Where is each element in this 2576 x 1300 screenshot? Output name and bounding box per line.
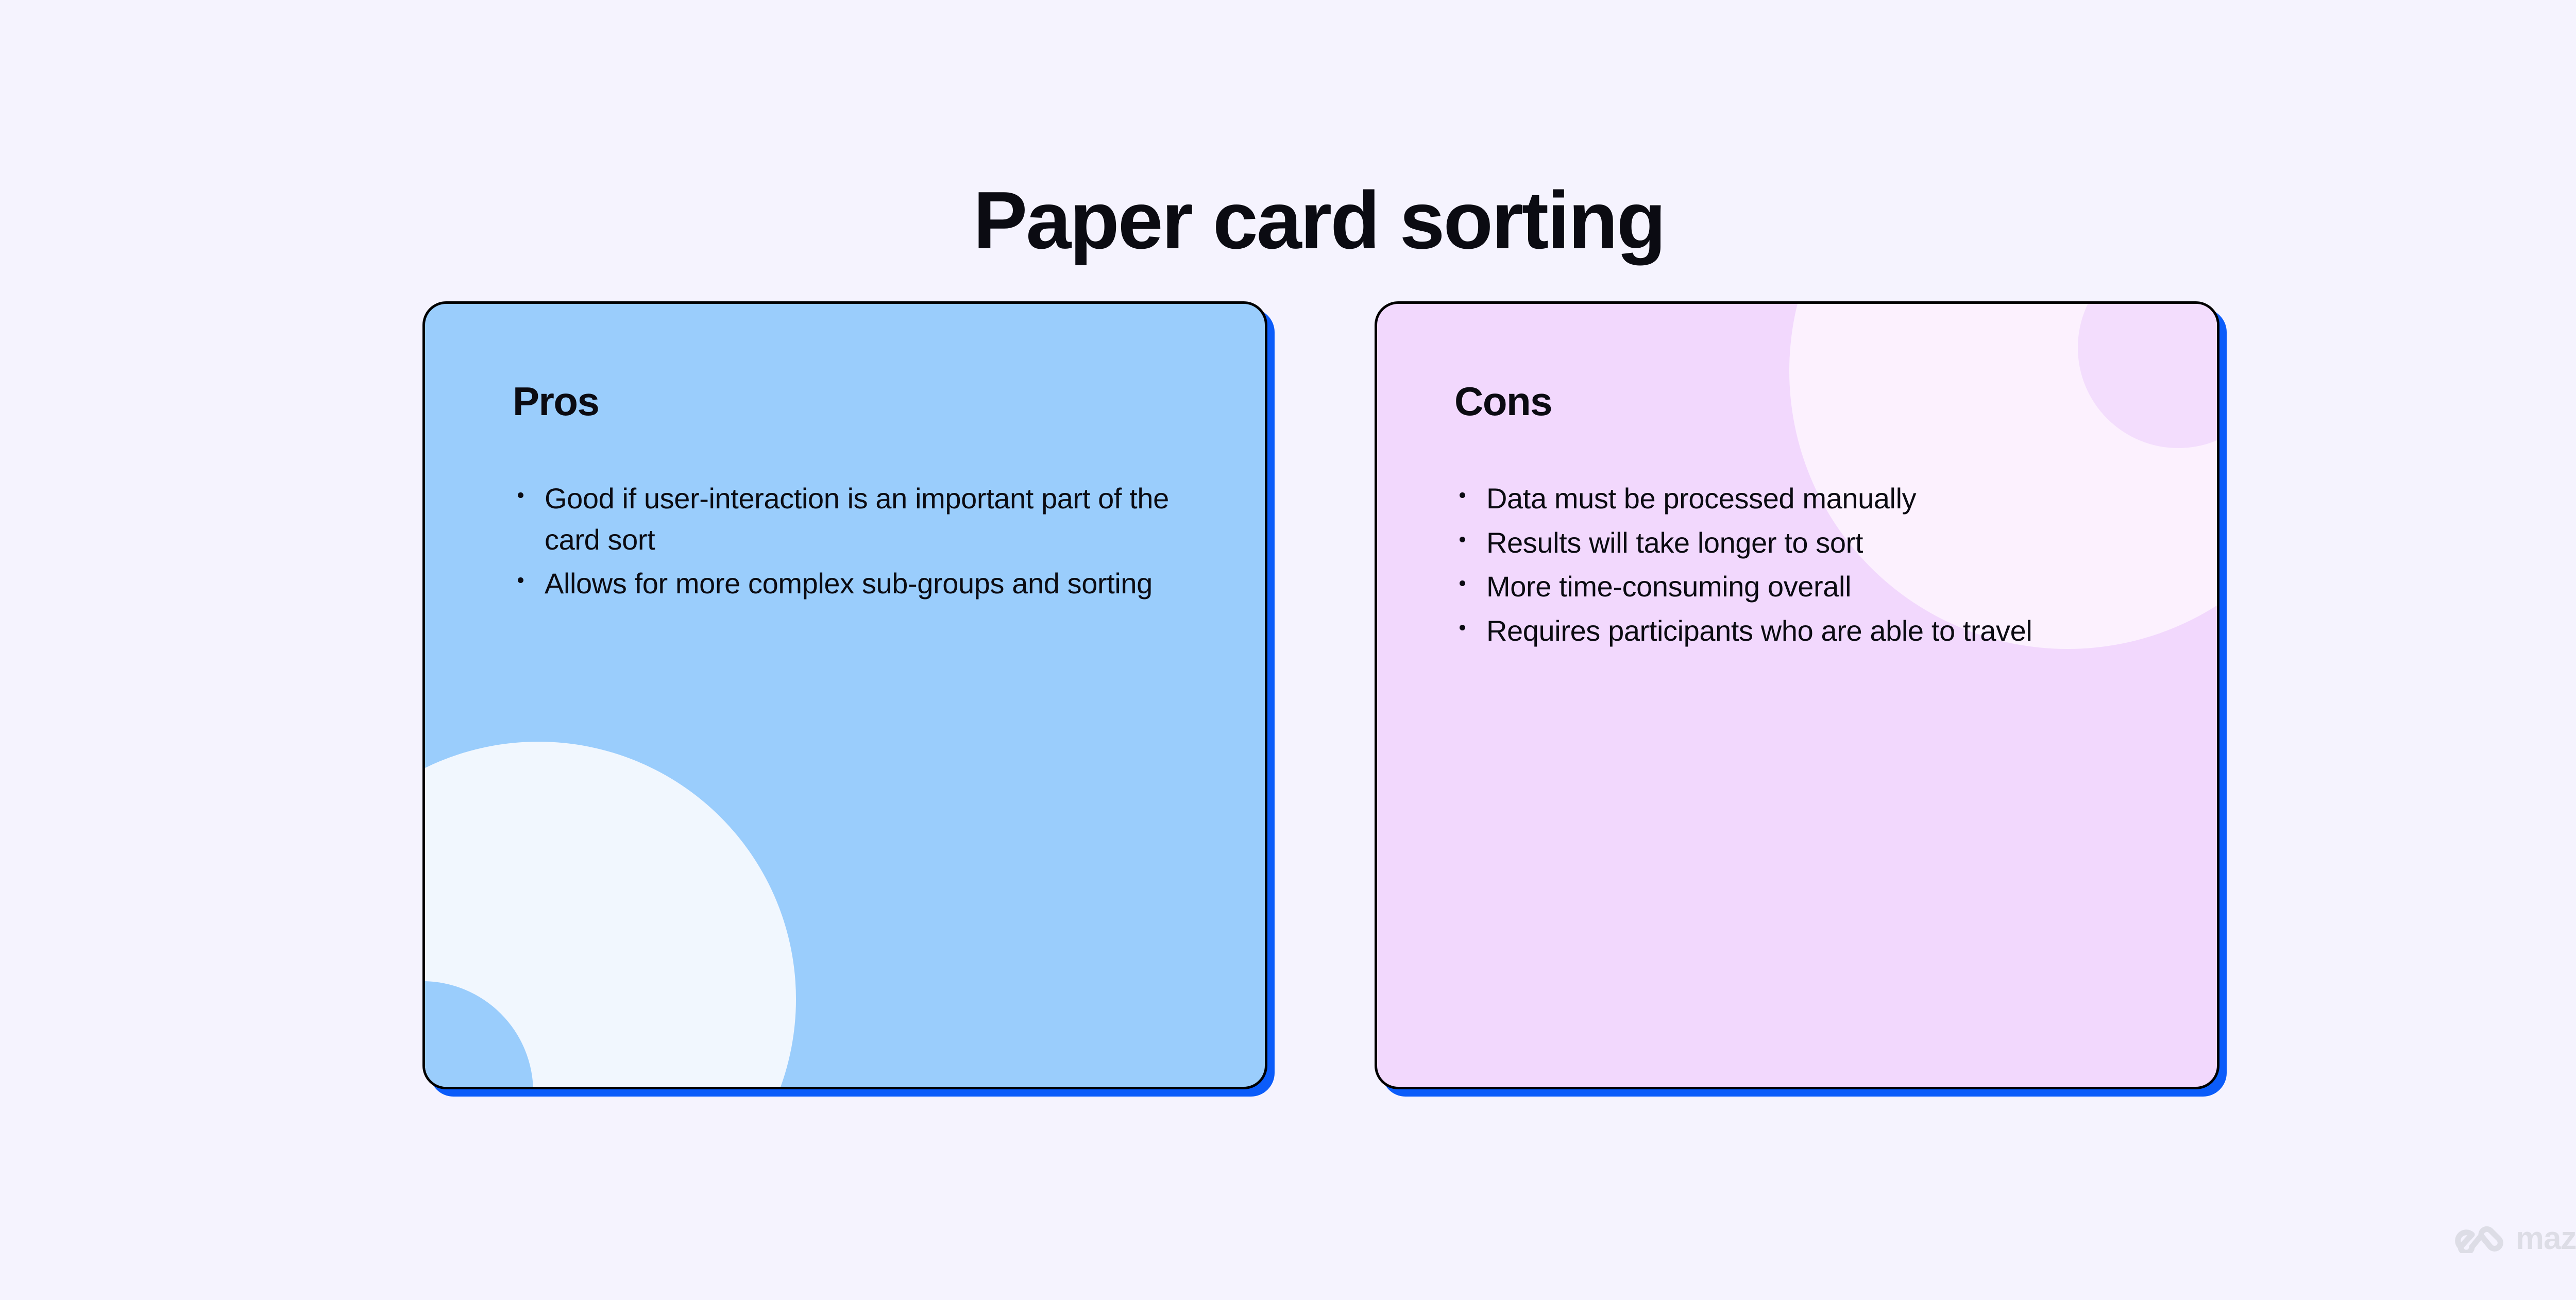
pros-card: Pros Good if user-interaction is an impo… (422, 301, 1267, 1089)
list-item: Data must be processed manually (1454, 478, 2186, 519)
pros-card-wrapper: Pros Good if user-interaction is an impo… (422, 301, 1267, 1089)
list-item-text: Requires participants who are able to tr… (1486, 614, 2032, 647)
pros-bullet-list: Good if user-interaction is an important… (513, 478, 1216, 604)
list-item: Allows for more complex sub-groups and s… (513, 563, 1216, 604)
decorative-circle-small (422, 981, 533, 1089)
list-item: Requires participants who are able to tr… (1454, 610, 2186, 652)
bullet-dot-icon (1460, 580, 1465, 586)
brand-name: maze (2516, 1223, 2576, 1255)
cons-bullet-list: Data must be processed manually Results … (1454, 478, 2186, 651)
list-item: Good if user-interaction is an important… (513, 478, 1216, 560)
bullet-dot-icon (1460, 537, 1465, 542)
bullet-dot-icon (1460, 625, 1465, 630)
page-title: Paper card sorting (0, 174, 2576, 268)
bullet-dot-icon (1460, 492, 1465, 498)
list-item-text: Allows for more complex sub-groups and s… (545, 567, 1153, 600)
pros-card-content: Pros Good if user-interaction is an impo… (425, 304, 1265, 604)
list-item-text: Data must be processed manually (1486, 482, 1916, 515)
decorative-circle-large (422, 742, 796, 1089)
list-item-text: Good if user-interaction is an important… (545, 482, 1169, 556)
cons-heading: Cons (1454, 381, 2186, 421)
brand-logo: maze (2455, 1223, 2576, 1255)
pros-heading: Pros (513, 381, 1216, 421)
list-item: Results will take longer to sort (1454, 522, 2186, 563)
bullet-dot-icon (518, 577, 523, 583)
maze-logo-icon (2455, 1224, 2504, 1253)
list-item-text: Results will take longer to sort (1486, 526, 1863, 559)
bullet-dot-icon (518, 492, 523, 498)
cons-card: Cons Data must be processed manually Res… (1375, 301, 2219, 1089)
list-item-text: More time-consuming overall (1486, 570, 1851, 603)
cons-card-content: Cons Data must be processed manually Res… (1377, 304, 2217, 651)
cons-card-wrapper: Cons Data must be processed manually Res… (1375, 301, 2219, 1089)
cards-container: Pros Good if user-interaction is an impo… (422, 301, 2257, 1110)
list-item: More time-consuming overall (1454, 566, 2186, 607)
